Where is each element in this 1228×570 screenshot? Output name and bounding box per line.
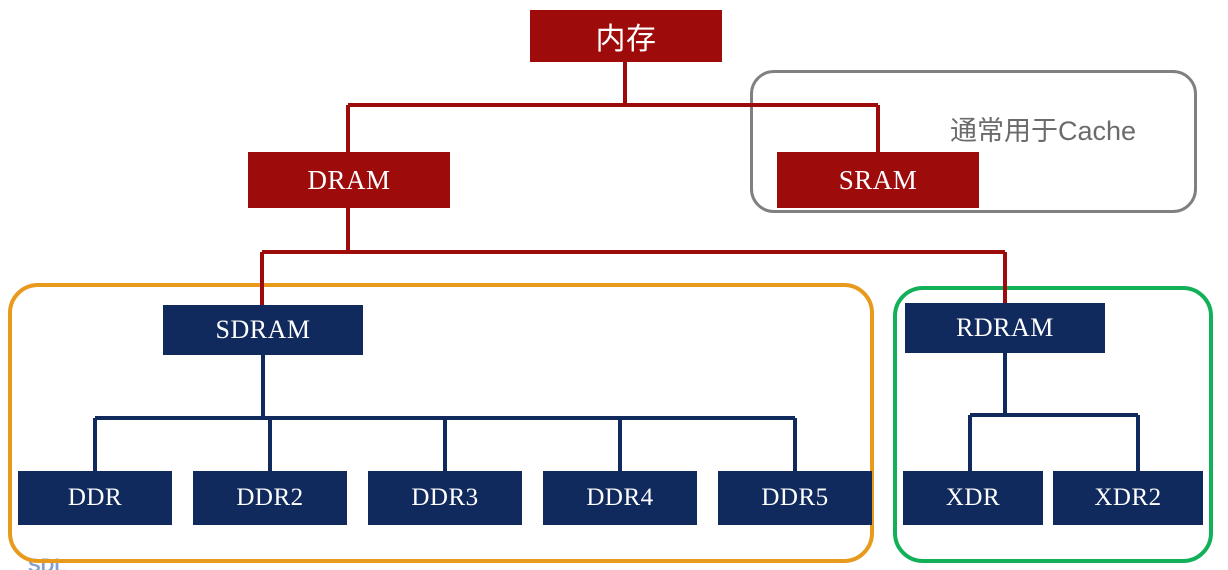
node-sram[interactable]: SRAM [777, 152, 979, 208]
node-memory-root[interactable]: 内存 [530, 10, 722, 62]
node-xdr2[interactable]: XDR2 [1053, 471, 1203, 525]
node-ddr3[interactable]: DDR3 [368, 471, 522, 525]
node-xdr[interactable]: XDR [903, 471, 1043, 525]
cache-annotation: 通常用于Cache [950, 109, 1136, 148]
node-rdram[interactable]: RDRAM [905, 303, 1105, 353]
node-ddr4[interactable]: DDR4 [543, 471, 697, 525]
node-dram[interactable]: DRAM [248, 152, 450, 208]
node-ddr[interactable]: DDR [18, 471, 172, 525]
node-ddr2[interactable]: DDR2 [193, 471, 347, 525]
diagram-canvas: 通常用于Cache 内存 DRAM SRAM SDRAM RDRAM DDR D… [0, 0, 1228, 570]
node-sdram[interactable]: SDRAM [163, 305, 363, 355]
node-ddr5[interactable]: DDR5 [718, 471, 872, 525]
